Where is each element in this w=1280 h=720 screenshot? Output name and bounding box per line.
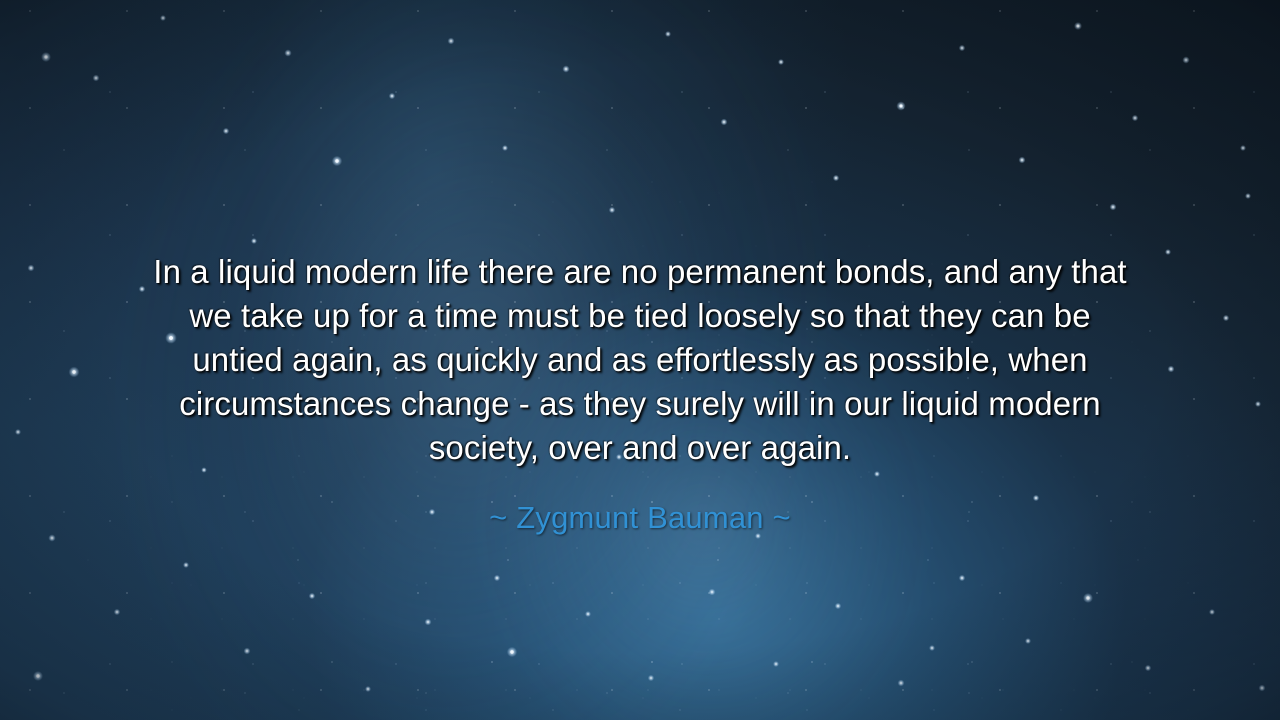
quote-line: In a liquid modern life there are no per… xyxy=(90,250,1190,294)
quote-text: In a liquid modern life there are no per… xyxy=(90,250,1190,470)
quote-card: In a liquid modern life there are no per… xyxy=(0,0,1280,720)
quote-block: In a liquid modern life there are no per… xyxy=(90,250,1190,535)
quote-line: circumstances change - as they surely wi… xyxy=(90,382,1190,426)
quote-line: untied again, as quickly and as effortle… xyxy=(90,338,1190,382)
author-attribution: ~ Zygmunt Bauman ~ xyxy=(90,501,1190,535)
quote-line: society, over and over again. xyxy=(90,426,1190,470)
quote-line: we take up for a time must be tied loose… xyxy=(90,294,1190,338)
